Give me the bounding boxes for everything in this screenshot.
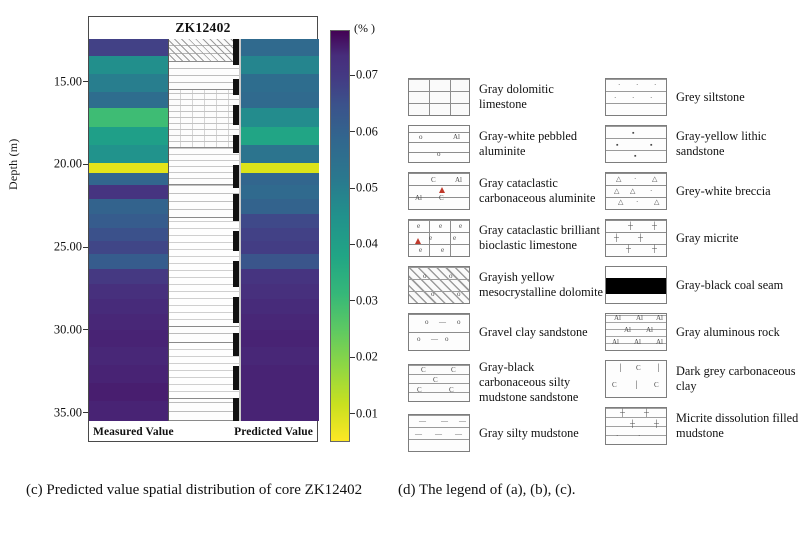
swatch-glyph: C <box>451 367 456 374</box>
swatch-glyph: Al <box>455 177 462 184</box>
page-title: ZK12402 <box>89 20 317 36</box>
value-band <box>241 228 319 241</box>
lithology-bar-segment <box>233 261 239 287</box>
swatch-glyph: │ <box>618 365 623 372</box>
value-band <box>241 163 319 173</box>
swatch-glyph: △ <box>618 199 623 206</box>
swatch-glyph: △ <box>614 188 619 195</box>
swatch-glyph: C <box>439 195 444 202</box>
swatch-glyph: o <box>449 273 453 280</box>
swatch-glyph: Al <box>656 315 663 322</box>
legend-item: ······Grey siltstone <box>605 78 800 116</box>
lithology-unit <box>169 148 240 184</box>
legend-item: AlAlAlAlAlAlAlAlGray aluminous rock <box>605 313 800 351</box>
legend-item-label: Gray-white pebbled aluminite <box>479 129 603 159</box>
value-band <box>89 314 168 331</box>
value-band <box>89 199 168 214</box>
legend-swatch-icon: —————— <box>408 414 470 452</box>
swatch-glyph: · <box>632 95 634 102</box>
legend-swatch-icon: ▪▪▪▪ <box>605 125 667 163</box>
measured-value-column <box>89 39 168 421</box>
swatch-glyph: · <box>618 82 620 89</box>
y-axis-tick: 30.00 <box>54 322 82 337</box>
value-band <box>89 56 168 74</box>
value-band <box>89 401 168 421</box>
colorbar-tick: 0.01 <box>356 406 378 421</box>
value-band <box>89 145 168 163</box>
value-band <box>241 74 319 92</box>
legend-swatch-icon: oAlo <box>408 125 470 163</box>
swatch-glyph: ▪ <box>634 153 636 160</box>
swatch-glyph: e <box>453 235 456 242</box>
swatch-glyph: — <box>431 336 438 343</box>
legend-item: ▪▪▪▪Gray-yellow lithic sandstone <box>605 125 800 163</box>
legend-item: ooooGrayish yellow mesocrystalline dolom… <box>408 266 603 304</box>
swatch-glyph: o <box>457 291 461 298</box>
value-band <box>241 347 319 365</box>
predicted-value-column <box>241 39 319 421</box>
value-band <box>89 269 168 284</box>
swatch-glyph: ┼ <box>638 235 643 242</box>
legend-item: ┼┼┼┼··Micrite dissolution filled mudston… <box>605 407 800 445</box>
swatch-glyph: o <box>417 336 421 343</box>
swatch-glyph: · <box>614 95 616 102</box>
lithology-bar-segment <box>233 398 239 421</box>
value-band <box>89 241 168 254</box>
lithology-column <box>168 39 241 421</box>
swatch-glyph: ┼ <box>652 223 657 230</box>
legend-item-label: Gray-yellow lithic sandstone <box>676 129 800 159</box>
swatch-glyph: e <box>439 223 442 230</box>
legend-swatch-icon: ┼┼┼┼·· <box>605 407 667 445</box>
value-band <box>241 401 319 421</box>
swatch-glyph: │ <box>634 382 639 389</box>
swatch-glyph: — <box>439 319 446 326</box>
legend-item: CCCCCGray-black carbonaceous silty mudst… <box>408 360 603 405</box>
legend-swatch-icon: ┼┼┼┼┼┼ <box>605 219 667 257</box>
caption-panel-d: (d) The legend of (a), (b), (c). <box>398 476 778 505</box>
legend-item: eeeeeeeGray cataclastic brilliant biocla… <box>408 219 603 257</box>
lithology-unit <box>169 62 240 90</box>
coal-seam-band <box>606 278 666 294</box>
value-band <box>241 299 319 314</box>
legend-swatch-icon: AlAlAlAlAlAlAlAl <box>605 313 667 351</box>
value-band <box>89 254 168 269</box>
legend-item-label: Gray cataclastic carbonaceous aluminite <box>479 176 603 206</box>
swatch-glyph: C <box>449 387 454 394</box>
colorbar-tick-mark <box>350 300 355 301</box>
value-band <box>241 269 319 284</box>
colorbar-tick-mark <box>350 244 355 245</box>
swatch-glyph: — <box>441 418 448 425</box>
y-axis-ticks: 15.0020.0025.0030.0035.00 <box>22 30 86 442</box>
lithology-unit <box>169 185 240 218</box>
swatch-glyph: Al <box>612 339 619 346</box>
lithology-bar-segment <box>233 79 239 96</box>
colorbar-tick: 0.05 <box>356 181 378 196</box>
lithology-bar-segment <box>233 333 239 356</box>
y-axis-tick: 25.00 <box>54 240 82 255</box>
swatch-glyph: △ <box>654 199 659 206</box>
y-axis-tick: 15.00 <box>54 74 82 89</box>
legend-item-label: Gray silty mudstone <box>479 426 579 441</box>
legend-swatch-icon: ······ <box>605 78 667 116</box>
value-band <box>89 39 168 56</box>
legend-item-label: Gray dolomitic limestone <box>479 82 603 112</box>
swatch-glyph: o <box>457 319 461 326</box>
value-band <box>241 145 319 163</box>
swatch-glyph: C <box>417 387 422 394</box>
lithology-marker-bar <box>233 39 239 421</box>
swatch-glyph: C <box>421 367 426 374</box>
swatch-glyph: · <box>650 95 652 102</box>
legend-item-label: Gray-black carbonaceous silty mudstone s… <box>479 360 603 405</box>
swatch-glyph: e <box>459 223 462 230</box>
value-band <box>241 108 319 126</box>
swatch-glyph: ▪ <box>616 142 618 149</box>
lithology-bar-segment <box>233 231 239 251</box>
legend-item: o—oo—oGravel clay sandstone <box>408 313 603 351</box>
legend-swatch-icon: CAlAlC <box>408 172 470 210</box>
swatch-glyph: o <box>419 134 423 141</box>
measured-value-label: Measured Value <box>93 426 174 438</box>
swatch-glyph: o <box>431 291 435 298</box>
swatch-glyph: C <box>431 177 436 184</box>
lithology-unit <box>169 400 240 421</box>
legend-column-left: Gray dolomitic limestoneoAloGray-white p… <box>408 78 603 461</box>
core-columns <box>89 39 317 421</box>
colorbar-tick-mark <box>350 131 355 132</box>
swatch-glyph: · <box>650 188 652 195</box>
value-band <box>241 39 319 56</box>
swatch-glyph: Al <box>624 327 631 334</box>
legend-swatch-icon: eeeeeee <box>408 219 470 257</box>
swatch-glyph: △ <box>652 176 657 183</box>
swatch-glyph: o <box>445 336 449 343</box>
swatch-glyph: Al <box>636 315 643 322</box>
swatch-glyph: ▪ <box>650 142 652 149</box>
value-band <box>241 127 319 145</box>
legend-item-label: Gravel clay sandstone <box>479 325 588 340</box>
colorbar-tick: 0.02 <box>356 350 378 365</box>
colorbar-tick: 0.06 <box>356 124 378 139</box>
value-band <box>89 299 168 314</box>
swatch-glyph: · <box>638 433 640 440</box>
swatch-glyph: │ <box>656 365 661 372</box>
legend-item: ┼┼┼┼┼┼Gray micrite <box>605 219 800 257</box>
swatch-glyph: Al <box>453 134 460 141</box>
colorbar-tick-mark <box>350 188 355 189</box>
swatch-glyph: — <box>419 418 426 425</box>
colorbar-gradient <box>330 30 350 442</box>
lithology-unit <box>169 39 240 62</box>
lithology-unit <box>169 343 240 399</box>
legend-item-label: Grey-white breccia <box>676 184 771 199</box>
swatch-glyph: — <box>435 431 442 438</box>
swatch-glyph: ┼ <box>644 410 649 417</box>
legend-swatch-icon: oooo <box>408 266 470 304</box>
value-band <box>89 284 168 299</box>
swatch-glyph: C <box>433 377 438 384</box>
value-band <box>241 254 319 269</box>
value-band <box>89 185 168 200</box>
swatch-glyph: ┼ <box>614 235 619 242</box>
colorbar-tick: 0.03 <box>356 293 378 308</box>
swatch-glyph: △ <box>630 188 635 195</box>
legend-item: │C│C│CDark grey carbonaceous clay <box>605 360 800 398</box>
swatch-glyph: Al <box>646 327 653 334</box>
swatch-glyph: · <box>636 199 638 206</box>
value-band <box>89 228 168 241</box>
colorbar-tick: 0.04 <box>356 237 378 252</box>
swatch-glyph: ┼ <box>652 246 657 253</box>
value-band <box>241 314 319 331</box>
swatch-glyph: o <box>437 151 441 158</box>
swatch-glyph: · <box>636 82 638 89</box>
legend-item: ——————Gray silty mudstone <box>408 414 603 452</box>
swatch-glyph: ▪ <box>632 130 634 137</box>
lithology-unit <box>169 90 240 148</box>
value-band <box>241 173 319 185</box>
legend-item-label: Gray micrite <box>676 231 738 246</box>
colorbar-tick-mark <box>350 413 355 414</box>
value-band <box>241 92 319 109</box>
swatch-glyph: · <box>654 82 656 89</box>
value-band <box>89 163 168 173</box>
lithology-unit <box>169 327 240 344</box>
value-band <box>89 365 168 383</box>
value-band <box>241 185 319 200</box>
value-band <box>89 92 168 109</box>
swatch-glyph: C <box>636 365 641 372</box>
y-axis-tick: 35.00 <box>54 405 82 420</box>
legend-swatch-icon <box>408 78 470 116</box>
swatch-glyph: △ <box>616 176 621 183</box>
value-band <box>241 330 319 347</box>
value-band <box>89 74 168 92</box>
swatch-glyph: Al <box>614 315 621 322</box>
legend-item-label: Gray-black coal seam <box>676 278 783 293</box>
swatch-glyph: ┼ <box>654 421 659 428</box>
legend-item-label: Grey siltstone <box>676 90 745 105</box>
swatch-glyph: Al <box>415 195 422 202</box>
swatch-glyph: Al <box>656 339 663 346</box>
legend-item: CAlAlCGray cataclastic carbonaceous alum… <box>408 172 603 210</box>
legend-item: oAloGray-white pebbled aluminite <box>408 125 603 163</box>
value-band <box>89 383 168 401</box>
legend-item-label: Gray cataclastic brilliant bioclastic li… <box>479 223 603 253</box>
legend-item-label: Gray aluminous rock <box>676 325 780 340</box>
swatch-triangle-marker <box>439 187 445 193</box>
swatch-glyph: — <box>415 431 422 438</box>
lithology-unit <box>169 218 240 327</box>
legend-item: Gray-black coal seam <box>605 266 800 304</box>
legend-item-label: Dark grey carbonaceous clay <box>676 364 800 394</box>
y-axis-label: Depth (m) <box>6 139 21 190</box>
value-band <box>241 199 319 214</box>
swatch-glyph: ┼ <box>620 410 625 417</box>
value-band <box>241 56 319 74</box>
legend-item-label: Micrite dissolution filled mudstone <box>676 411 800 441</box>
swatch-glyph: — <box>459 418 466 425</box>
predicted-value-label: Predicted Value <box>234 426 313 438</box>
legend-item: Gray dolomitic limestone <box>408 78 603 116</box>
swatch-glyph: e <box>429 235 432 242</box>
lithology-bar-segment <box>233 297 239 323</box>
value-band <box>89 330 168 347</box>
value-band <box>241 214 319 227</box>
legend-column-right: ······Grey siltstone▪▪▪▪Gray-yellow lith… <box>605 78 800 454</box>
swatch-glyph: ┼ <box>626 246 631 253</box>
colorbar-tick-mark <box>350 75 355 76</box>
lithology-bar-segment <box>233 39 239 65</box>
swatch-glyph: o <box>423 273 427 280</box>
legend-swatch-icon: o—oo—o <box>408 313 470 351</box>
panel-d-legend: Gray dolomitic limestoneoAloGray-white p… <box>400 0 800 470</box>
legend-swatch-icon: △·△△△·△·△ <box>605 172 667 210</box>
legend-swatch-icon: CCCCC <box>408 364 470 402</box>
swatch-glyph: ┼ <box>630 421 635 428</box>
swatch-glyph: — <box>455 431 462 438</box>
value-band <box>89 127 168 145</box>
swatch-glyph: Al <box>634 339 641 346</box>
legend-item-label: Grayish yellow mesocrystalline dolomite <box>479 270 603 300</box>
swatch-glyph: · <box>634 176 636 183</box>
legend-swatch-icon: │C│C│C <box>605 360 667 398</box>
legend-item: △·△△△·△·△ Grey-white breccia <box>605 172 800 210</box>
value-band <box>241 365 319 383</box>
panel-c-core-log: Depth (m) 15.0020.0025.0030.0035.00 ZK12… <box>0 0 400 470</box>
lithology-strip <box>168 39 241 421</box>
lithology-bar-segment <box>233 366 239 389</box>
colorbar: (% ) 0.070.060.050.040.030.020.01 <box>330 16 396 442</box>
swatch-triangle-marker <box>415 238 421 244</box>
value-band <box>89 347 168 365</box>
colorbar-unit-label: (% ) <box>354 21 375 36</box>
value-band <box>89 173 168 185</box>
lithology-bar-segment <box>233 165 239 188</box>
value-band <box>241 241 319 254</box>
lithology-bar-segment <box>233 194 239 220</box>
swatch-glyph: e <box>441 247 444 254</box>
colorbar-tick-mark <box>350 357 355 358</box>
swatch-glyph: o <box>425 319 429 326</box>
swatch-glyph: C <box>612 382 617 389</box>
value-band <box>89 108 168 126</box>
swatch-glyph: C <box>654 382 659 389</box>
value-band <box>89 214 168 227</box>
swatch-glyph: · <box>616 433 618 440</box>
lithology-bar-segment <box>233 135 239 153</box>
swatch-glyph: e <box>419 247 422 254</box>
value-band <box>241 284 319 299</box>
colorbar-tick: 0.07 <box>356 68 378 83</box>
core-plot-frame: ZK12402 Measured Value Predicted Value <box>88 16 318 442</box>
caption-panel-c: (c) Predicted value spatial distribution… <box>26 476 386 505</box>
y-axis-tick: 20.00 <box>54 157 82 172</box>
value-band <box>241 383 319 401</box>
swatch-glyph: ┼ <box>628 223 633 230</box>
legend-swatch-icon <box>605 266 667 304</box>
swatch-glyph: e <box>417 223 420 230</box>
lithology-bar-segment <box>233 105 239 125</box>
